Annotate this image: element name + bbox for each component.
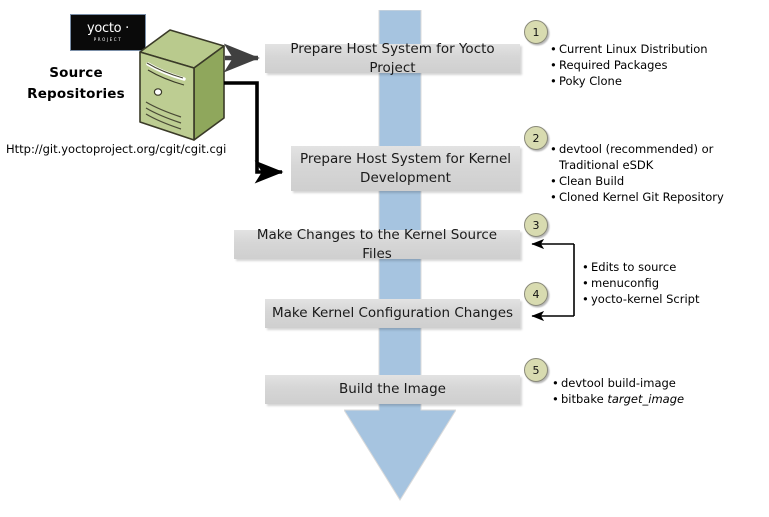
bullet-text: yocto-kernel Script <box>591 291 700 307</box>
server-tower-icon <box>136 26 228 143</box>
bullet-text: menuconfig <box>591 275 659 291</box>
bullet-glyph: • <box>550 173 559 189</box>
bullet-glyph: • <box>550 189 559 205</box>
bullet-text: Cloned Kernel Git Repository <box>559 189 724 205</box>
yocto-logo: yocto · PROJECT <box>70 14 146 51</box>
source-repositories-label: Source Repositories <box>12 63 140 105</box>
bullet-glyph: • <box>550 41 559 57</box>
bullet-text: devtool (recommended) or Traditional eSD… <box>559 141 719 173</box>
arrow-server-to-step2 <box>224 83 282 172</box>
yocto-logo-wordmark: yocto · <box>87 22 129 35</box>
bullet-text: Poky Clone <box>559 73 622 89</box>
diagram-canvas: yocto · PROJECT Source Repositories Http… <box>0 0 769 517</box>
bullet-glyph: • <box>550 57 559 73</box>
step-number-3: 3 <box>524 213 548 237</box>
list-item: • Current Linux Distribution <box>550 41 708 57</box>
bullet-text: Clean Build <box>559 173 624 189</box>
bullet-text-bitbake: bitbake target_image <box>561 391 684 407</box>
list-item: • menuconfig <box>582 275 700 291</box>
bullet-text: Edits to source <box>591 259 676 275</box>
list-item: • devtool build-image <box>552 375 684 391</box>
process-box-step-1[interactable]: Prepare Host System for Yocto Project <box>265 44 520 73</box>
bullet-list-steps-3-4: • Edits to source • menuconfig • yocto-k… <box>582 259 700 307</box>
bullet-text: Required Packages <box>559 57 668 73</box>
process-box-step-5[interactable]: Build the Image <box>265 375 520 404</box>
step-number-4: 4 <box>524 282 548 306</box>
bullet-glyph: • <box>550 73 559 89</box>
source-repository-url: Http://git.yoctoproject.org/cgit/cgit.cg… <box>6 142 226 156</box>
bullet-glyph: • <box>582 259 591 275</box>
bullet-list-step-1: • Current Linux Distribution • Required … <box>550 41 708 89</box>
process-box-step-2[interactable]: Prepare Host System for Kernel Developme… <box>291 146 520 191</box>
list-item: • yocto-kernel Script <box>582 291 700 307</box>
bullet-glyph: • <box>550 141 559 157</box>
bullet-text: devtool build-image <box>561 375 676 391</box>
step-number-5: 5 <box>524 358 548 382</box>
source-label-line2: Repositories <box>12 84 140 105</box>
bullet-glyph: • <box>552 375 561 391</box>
step-number-1: 1 <box>524 20 548 44</box>
source-label-line1: Source <box>12 63 140 84</box>
list-item: • Poky Clone <box>550 73 708 89</box>
bullet-list-step-2: • devtool (recommended) or Traditional e… <box>550 141 724 205</box>
bullet-glyph: • <box>582 275 591 291</box>
list-item: • Cloned Kernel Git Repository <box>550 189 724 205</box>
bullet-glyph: • <box>582 291 591 307</box>
list-item: • Required Packages <box>550 57 708 73</box>
bullet-text: Current Linux Distribution <box>559 41 708 57</box>
list-item: • bitbake target_image <box>552 391 684 407</box>
step-number-2: 2 <box>524 126 548 150</box>
list-item: • Clean Build <box>550 173 724 189</box>
list-item: • devtool (recommended) or Traditional e… <box>550 141 724 173</box>
bullet-list-step-5: • devtool build-image • bitbake target_i… <box>552 375 684 407</box>
bullet-glyph: • <box>552 391 561 407</box>
process-box-step-4[interactable]: Make Kernel Configuration Changes <box>265 299 520 328</box>
process-box-step-3[interactable]: Make Changes to the Kernel Source Files <box>234 230 520 259</box>
yocto-logo-subtext: PROJECT <box>94 36 122 43</box>
list-item: • Edits to source <box>582 259 700 275</box>
